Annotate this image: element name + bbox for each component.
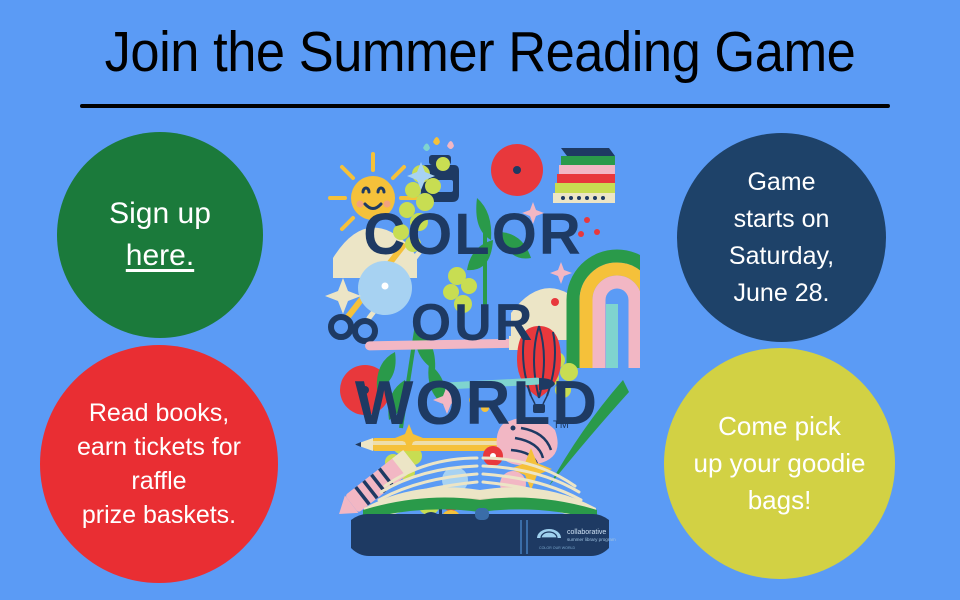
- cslp-logo-line-1: collaborative: [567, 529, 606, 536]
- title-divider: [80, 104, 890, 108]
- start-date-line-3: Saturday,: [683, 238, 880, 275]
- page-title: Join the Summer Reading Game: [38, 22, 921, 82]
- start-date-line-1: Game: [683, 164, 880, 201]
- rainbow-icon: [573, 256, 640, 368]
- flower-icon-red-top: [491, 144, 543, 196]
- goodie-line-2: up your goodie: [670, 445, 889, 482]
- headline-line-2: OUR: [411, 294, 536, 352]
- sign-up-line-1: Sign up: [63, 193, 257, 235]
- goodie-line-1: Come pick: [670, 408, 889, 445]
- cslp-logo-line-3: COLOR OUR WORLD: [539, 546, 576, 550]
- cslp-logo-line-2: summer library program: [567, 537, 616, 542]
- circle-accent-dot: [382, 283, 389, 290]
- raffle-text: Read books, earn tickets for raffle priz…: [40, 396, 278, 532]
- sign-up-bubble[interactable]: Sign up here.: [57, 132, 263, 338]
- goodie-line-3: bags!: [670, 482, 889, 519]
- goodie-bags-text: Come pick up your goodie bags!: [664, 408, 895, 519]
- start-date-line-4: June 28.: [683, 275, 880, 312]
- raffle-line-4: prize baskets.: [46, 498, 272, 532]
- stacked-books-icon: [553, 148, 615, 203]
- start-date-bubble: Game starts on Saturday, June 28.: [677, 133, 886, 342]
- start-date-line-2: starts on: [683, 201, 880, 238]
- raffle-line-2: earn tickets for: [46, 430, 272, 464]
- raffle-line-3: raffle: [46, 464, 272, 498]
- sign-up-here-link[interactable]: here.: [63, 235, 257, 277]
- headline-line-1: COLOR: [363, 202, 582, 267]
- raffle-line-1: Read books,: [46, 396, 272, 430]
- headline-trademark: TM: [553, 419, 569, 431]
- goodie-bags-bubble: Come pick up your goodie bags!: [664, 348, 895, 579]
- raffle-bubble: Read books, earn tickets for raffle priz…: [40, 345, 278, 583]
- color-our-world-illustration: COLOR OUR WORLD TM: [325, 128, 640, 560]
- flyer-canvas: Join the Summer Reading Game Sign up her…: [0, 0, 960, 600]
- sign-up-text: Sign up here.: [57, 193, 263, 277]
- start-date-text: Game starts on Saturday, June 28.: [677, 164, 886, 312]
